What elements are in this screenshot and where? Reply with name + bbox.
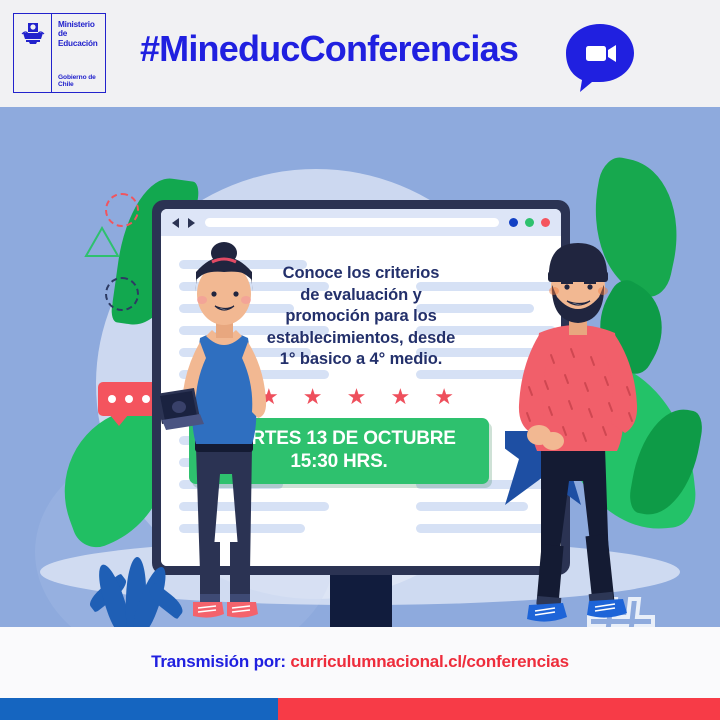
window-dot-blue[interactable]	[509, 218, 518, 227]
poster-footer: Transmisión por: curriculumnacional.cl/c…	[0, 627, 720, 720]
chat-bubble-icon	[98, 382, 160, 416]
monitor-stand-neck	[330, 575, 392, 627]
arrow-forward-icon[interactable]	[188, 218, 195, 228]
broadcast-url[interactable]: curriculumnacional.cl/conferencias	[290, 652, 569, 671]
triangle-outline-icon	[84, 225, 120, 259]
flag-bar-blue	[0, 698, 278, 720]
government-label: Gobierno de Chile	[58, 74, 105, 88]
video-camera-chat-bubble-icon	[562, 22, 638, 94]
man-holding-star-illustration	[505, 235, 655, 627]
broadcast-line: Transmisión por: curriculumnacional.cl/c…	[0, 652, 720, 672]
poster-header: Ministerio de Educación Gobierno de Chil…	[0, 0, 720, 107]
window-dot-green[interactable]	[525, 218, 534, 227]
conference-poster: Ministerio de Educación Gobierno de Chil…	[0, 0, 720, 720]
woman-holding-laptop-illustration	[160, 242, 290, 627]
url-input[interactable]	[205, 218, 499, 227]
dashed-circle-icon	[105, 193, 139, 227]
dashed-circle-icon	[105, 277, 139, 311]
illustration-stage: Conoce los criterios de evaluación y pro…	[0, 107, 720, 627]
browser-toolbar	[161, 209, 561, 236]
potted-plant-illustration	[82, 557, 178, 627]
arrow-back-icon[interactable]	[172, 218, 179, 228]
window-dot-red[interactable]	[541, 218, 550, 227]
broadcast-label: Transmisión por:	[151, 652, 286, 671]
flag-bar-red	[278, 698, 720, 720]
